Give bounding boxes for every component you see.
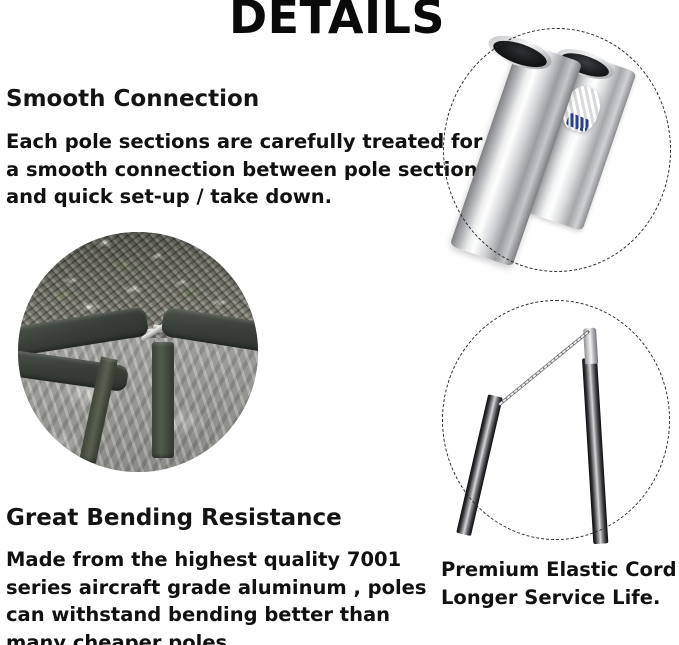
tent-hub-strap	[152, 342, 174, 457]
pole-section-left	[456, 394, 503, 536]
tent-corner-photo	[18, 232, 258, 472]
caption-elastic-cord: Premium Elastic Cord for Longer Service …	[441, 556, 676, 612]
caption-line: Longer Service Life.	[441, 584, 676, 612]
details-infographic: DETAILS Smooth Connection Each pole sect…	[0, 0, 679, 645]
caption-line: Premium Elastic Cord for	[441, 556, 676, 584]
braided-elastic-cord	[496, 330, 592, 406]
body-line: a smooth connection between pole section…	[6, 156, 446, 184]
aluminum-tube-connection-photo	[443, 28, 671, 272]
page-title: DETAILS	[222, 0, 452, 40]
body-line: can withstand bending better than	[6, 601, 426, 629]
body-line: Made from the highest quality 7001	[6, 546, 426, 574]
section-body-great-bending-resistance: Made from the highest quality 7001 serie…	[6, 546, 426, 645]
section-heading-great-bending-resistance: Great Bending Resistance	[6, 505, 342, 531]
section-body-smooth-connection: Each pole sections are carefully treated…	[6, 128, 446, 211]
body-line: and quick set-up / take down.	[6, 183, 446, 211]
body-line: Each pole sections are carefully treated…	[6, 128, 446, 156]
body-line: series aircraft grade aluminum , poles	[6, 574, 426, 602]
body-line: many cheaper poles.	[6, 629, 426, 645]
section-heading-smooth-connection: Smooth Connection	[6, 86, 259, 112]
elastic-cord-poles-photo	[442, 300, 670, 540]
